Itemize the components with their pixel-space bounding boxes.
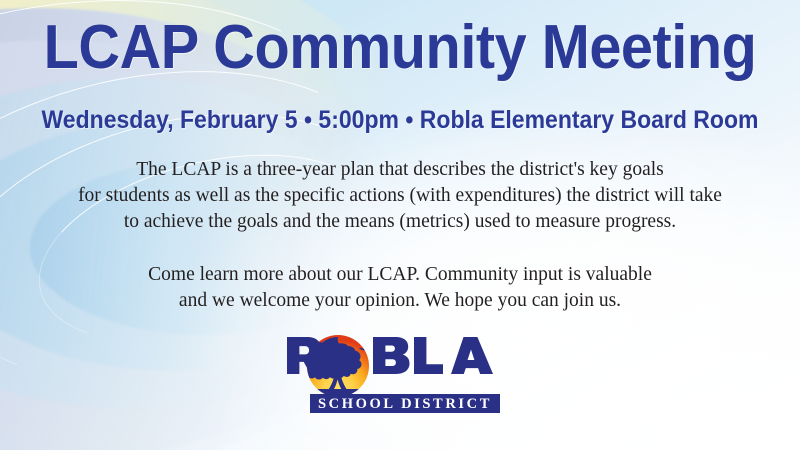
robla-school-district-logo: SCHOOL DISTRICT: [281, 334, 519, 416]
description-line-1: The LCAP is a three-year plan that descr…: [0, 157, 800, 183]
invitation-paragraph: Come learn more about our LCAP. Communit…: [0, 262, 800, 314]
description-paragraph: The LCAP is a three-year plan that descr…: [0, 157, 800, 235]
flyer-content: LCAP Community Meeting Wednesday, Februa…: [0, 0, 800, 450]
school-district-banner: SCHOOL DISTRICT: [310, 394, 500, 413]
invitation-line-2: and we welcome your opinion. We hope you…: [0, 288, 800, 314]
robla-wordmark: [287, 337, 493, 374]
invitation-line-1: Come learn more about our LCAP. Communit…: [0, 262, 800, 288]
lcap-community-meeting-flyer: LCAP Community Meeting Wednesday, Februa…: [0, 0, 800, 450]
description-line-3: to achieve the goals and the means (metr…: [0, 209, 800, 235]
school-district-banner-text: SCHOOL DISTRICT: [318, 396, 492, 412]
event-details-line: Wednesday, February 5 • 5:00pm • Robla E…: [32, 108, 768, 133]
description-line-2: for students as well as the specific act…: [0, 183, 800, 209]
page-title: LCAP Community Meeting: [28, 17, 772, 79]
